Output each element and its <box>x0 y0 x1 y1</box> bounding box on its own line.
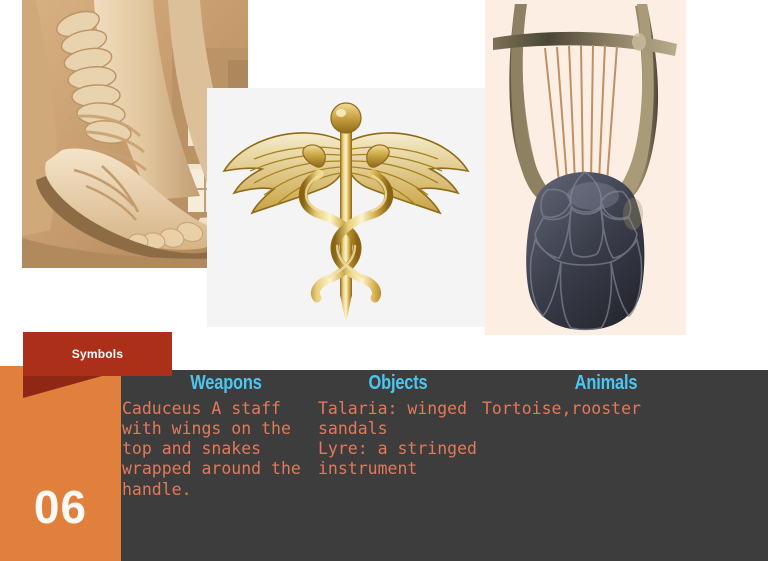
column-animals-heading: Animals <box>557 373 655 394</box>
column-weapons: Weapons Caduceus A staff with wings on t… <box>122 373 312 500</box>
slide-number: 06 <box>0 484 121 530</box>
lyre-image <box>485 0 686 335</box>
column-weapons-heading: Weapons <box>177 373 275 394</box>
slide-canvas: 06 Symbols Weapons Caduceus A staff with… <box>0 0 768 561</box>
column-animals-body: Tortoise,rooster <box>480 399 768 419</box>
lyre-graphic <box>485 0 686 335</box>
ribbon-fold <box>23 376 102 398</box>
caduceus-image <box>207 88 485 327</box>
caduceus-graphic <box>207 88 485 327</box>
column-objects: Objects Talaria: winged sandals Lyre: a … <box>318 373 498 480</box>
column-objects-heading: Objects <box>349 373 447 394</box>
column-weapons-body: Caduceus A staff with wings on the top a… <box>122 399 312 500</box>
column-animals: Animals Tortoise,rooster <box>480 373 768 419</box>
column-objects-body: Talaria: winged sandals Lyre: a stringed… <box>318 399 498 480</box>
section-title: Symbols <box>23 332 172 376</box>
